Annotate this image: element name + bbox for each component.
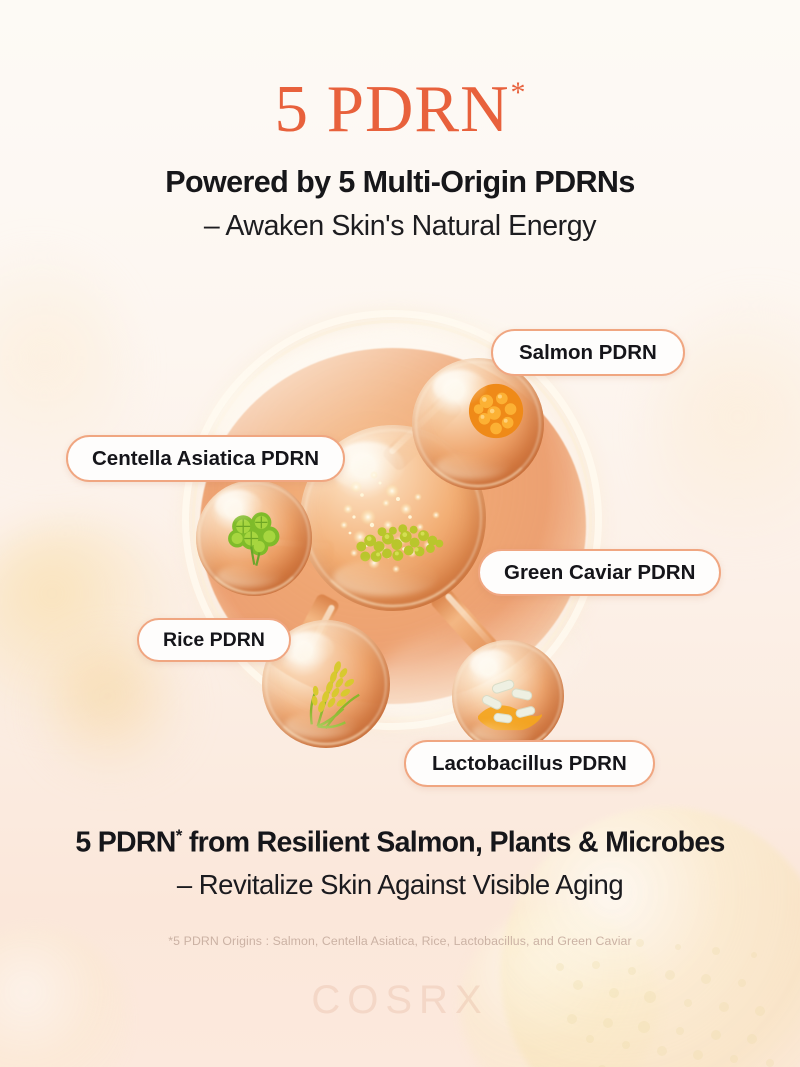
headline-block: 5 PDRN* Powered by 5 Multi-Origin PDRNs …	[0, 0, 800, 243]
label-green-caviar-pdrn-text: Green Caviar PDRN	[504, 561, 695, 585]
five-pdrn-molecule-diagram	[0, 300, 800, 770]
sphere-lactobacillus-highlight	[470, 650, 515, 679]
sphere-salmon	[412, 358, 544, 490]
footer-headline: 5 PDRN* from Resilient Salmon, Plants & …	[0, 826, 800, 860]
label-centella-asiatica-pdrn[interactable]: Centella Asiatica PDRN	[66, 435, 345, 482]
label-centella-asiatica-pdrn-text: Centella Asiatica PDRN	[92, 447, 319, 471]
footnote-pdrn-origins: *5 PDRN Origins : Salmon, Centella Asiat…	[0, 934, 800, 948]
subtitle-secondary: – Awaken Skin's Natural Energy	[0, 210, 800, 243]
sphere-centella-highlight	[215, 490, 261, 520]
footer-headline-post: from Resilient Salmon, Plants & Microbes	[182, 827, 725, 859]
label-lactobacillus-pdrn[interactable]: Lactobacillus PDRN	[404, 740, 655, 787]
sphere-salmon-highlight	[433, 370, 486, 404]
sphere-center-bottom-glow	[333, 559, 437, 596]
footer-block: 5 PDRN* from Resilient Salmon, Plants & …	[0, 826, 800, 948]
page-title-asterisk: *	[510, 76, 526, 109]
footer-subheadline: – Revitalize Skin Against Visible Aging	[0, 869, 800, 901]
sphere-centella	[196, 480, 312, 596]
sphere-rice-bottom-glow	[285, 712, 357, 738]
page-title-text: 5 PDRN	[275, 72, 510, 146]
label-salmon-pdrn[interactable]: Salmon PDRN	[491, 329, 685, 376]
footer-headline-pre: 5 PDRN	[75, 827, 175, 859]
label-rice-pdrn-text: Rice PDRN	[163, 629, 265, 652]
brand-watermark: COSRX	[0, 978, 800, 1023]
sphere-centella-bottom-glow	[217, 564, 282, 587]
sphere-lactobacillus	[452, 640, 564, 752]
label-salmon-pdrn-text: Salmon PDRN	[519, 341, 657, 365]
label-lactobacillus-pdrn-text: Lactobacillus PDRN	[432, 752, 627, 776]
subtitle-primary: Powered by 5 Multi-Origin PDRNs	[0, 165, 800, 200]
page-title: 5 PDRN*	[275, 0, 526, 143]
label-rice-pdrn[interactable]: Rice PDRN	[137, 618, 291, 662]
label-green-caviar-pdrn[interactable]: Green Caviar PDRN	[478, 549, 721, 596]
promo-page: 5 PDRN* Powered by 5 Multi-Origin PDRNs …	[0, 0, 800, 1067]
